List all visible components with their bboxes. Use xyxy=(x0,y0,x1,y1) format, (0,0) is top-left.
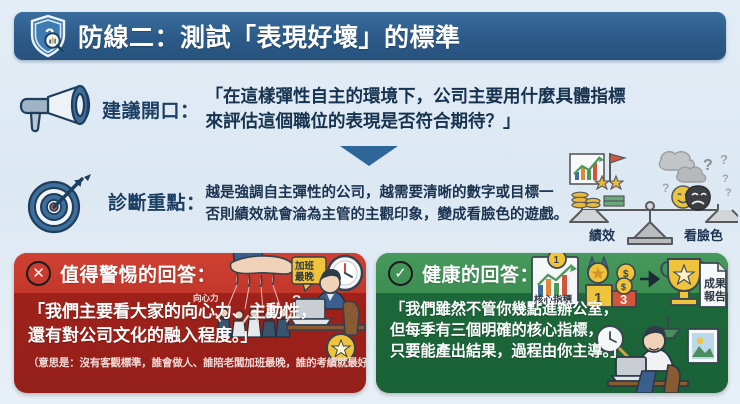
warning-quote-line-1: 「我們主要看大家的向心力、主動性， xyxy=(28,300,352,324)
diagnosis-text: 診斷重點： xyxy=(108,189,212,218)
scale-left-label: 績效 xyxy=(589,228,616,243)
quote-line-2: 來評估這個職位的表現是否符合期待？」 xyxy=(206,109,626,134)
arrow-down-icon xyxy=(340,146,398,166)
svg-text:?: ? xyxy=(722,173,729,185)
warning-card-body: 「我們主要看大家的向心力、主動性， 還有對公司文化的融入程度。」 （意思是：沒有… xyxy=(14,293,366,370)
warning-card-quote: 「我們主要看大家的向心力、主動性， 還有對公司文化的融入程度。」 xyxy=(28,300,352,348)
balance-scale-icon: ? ? ? ? ? 績效 看臉色 xyxy=(562,148,738,246)
healthy-card-title: 健康的回答： xyxy=(422,260,539,287)
suggested-question-row: 建議開口： 「在這樣彈性自主的環境下，公司主要用什麼具體指標 來評估這個職位的表… xyxy=(16,78,728,140)
suggested-question-label: 建議開口： xyxy=(102,96,200,123)
megaphone-icon xyxy=(16,81,102,137)
svg-text:?: ? xyxy=(662,181,669,195)
warning-quote-line-2: 還有對公司文化的融入程度。」 xyxy=(28,324,352,348)
healthy-quote-line-1: 「我們雖然不管你幾點進辦公室， xyxy=(390,300,714,321)
shield-magnifier-chart-icon: 2 xyxy=(22,13,76,59)
healthy-card-body: 「我們雖然不管你幾點進辦公室， 但每季有三個明確的核心指標， 只要能產出結果，過… xyxy=(376,293,728,363)
warning-answer-card: 向心力 ? 加班 最晚 xyxy=(14,253,366,393)
header-bar: 2 防線二：測試「表現好壞」的標準 xyxy=(14,12,726,60)
suggested-question-quote: 「在這樣彈性自主的環境下，公司主要用什麼具體指標 來評估這個職位的表現是否符合期… xyxy=(206,84,626,134)
target-dartboard-icon xyxy=(16,171,102,237)
scale-right-label: 看臉色 xyxy=(684,228,723,243)
healthy-quote-line-3: 只要能產出結果，過程由你主導。」 xyxy=(390,342,714,363)
svg-text:?: ? xyxy=(703,157,713,174)
svg-text:?: ? xyxy=(725,187,732,199)
diagnosis-line-2: 否則績效就會淪為主管的主觀印象，變成看臉色的遊戲。 xyxy=(206,204,569,226)
svg-text:?: ? xyxy=(720,152,728,167)
warning-card-title: 值得警惕的回答： xyxy=(60,260,216,287)
cross-circle-icon: ✕ xyxy=(26,261,51,286)
warning-card-note: （意思是：沒有客觀標準，誰會做人、誰陪老闆加班最晚，誰的考績就最好。） xyxy=(28,355,352,370)
healthy-card-header: ✓ 健康的回答： xyxy=(376,253,728,293)
diagnosis-line-1: 越是強調自主彈性的公司，越需要清晰的數字或目標一 xyxy=(206,182,569,204)
healthy-quote-line-2: 但每季有三個明確的核心指標， xyxy=(390,321,714,342)
healthy-card-quote: 「我們雖然不管你幾點進辦公室， 但每季有三個明確的核心指標， 只要能產出結果，過… xyxy=(390,300,714,363)
quote-line-1: 「在這樣彈性自主的環境下，公司主要用什麼具體指標 xyxy=(206,84,626,109)
check-circle-icon: ✓ xyxy=(388,261,413,286)
diagnosis-label: 診斷重點： xyxy=(108,189,206,218)
page-title: 防線二：測試「表現好壞」的標準 xyxy=(78,18,461,54)
healthy-answer-card: 1 核心指標 1 3 $ $ xyxy=(376,253,728,393)
warning-card-header: ✕ 值得警惕的回答： xyxy=(14,253,366,293)
